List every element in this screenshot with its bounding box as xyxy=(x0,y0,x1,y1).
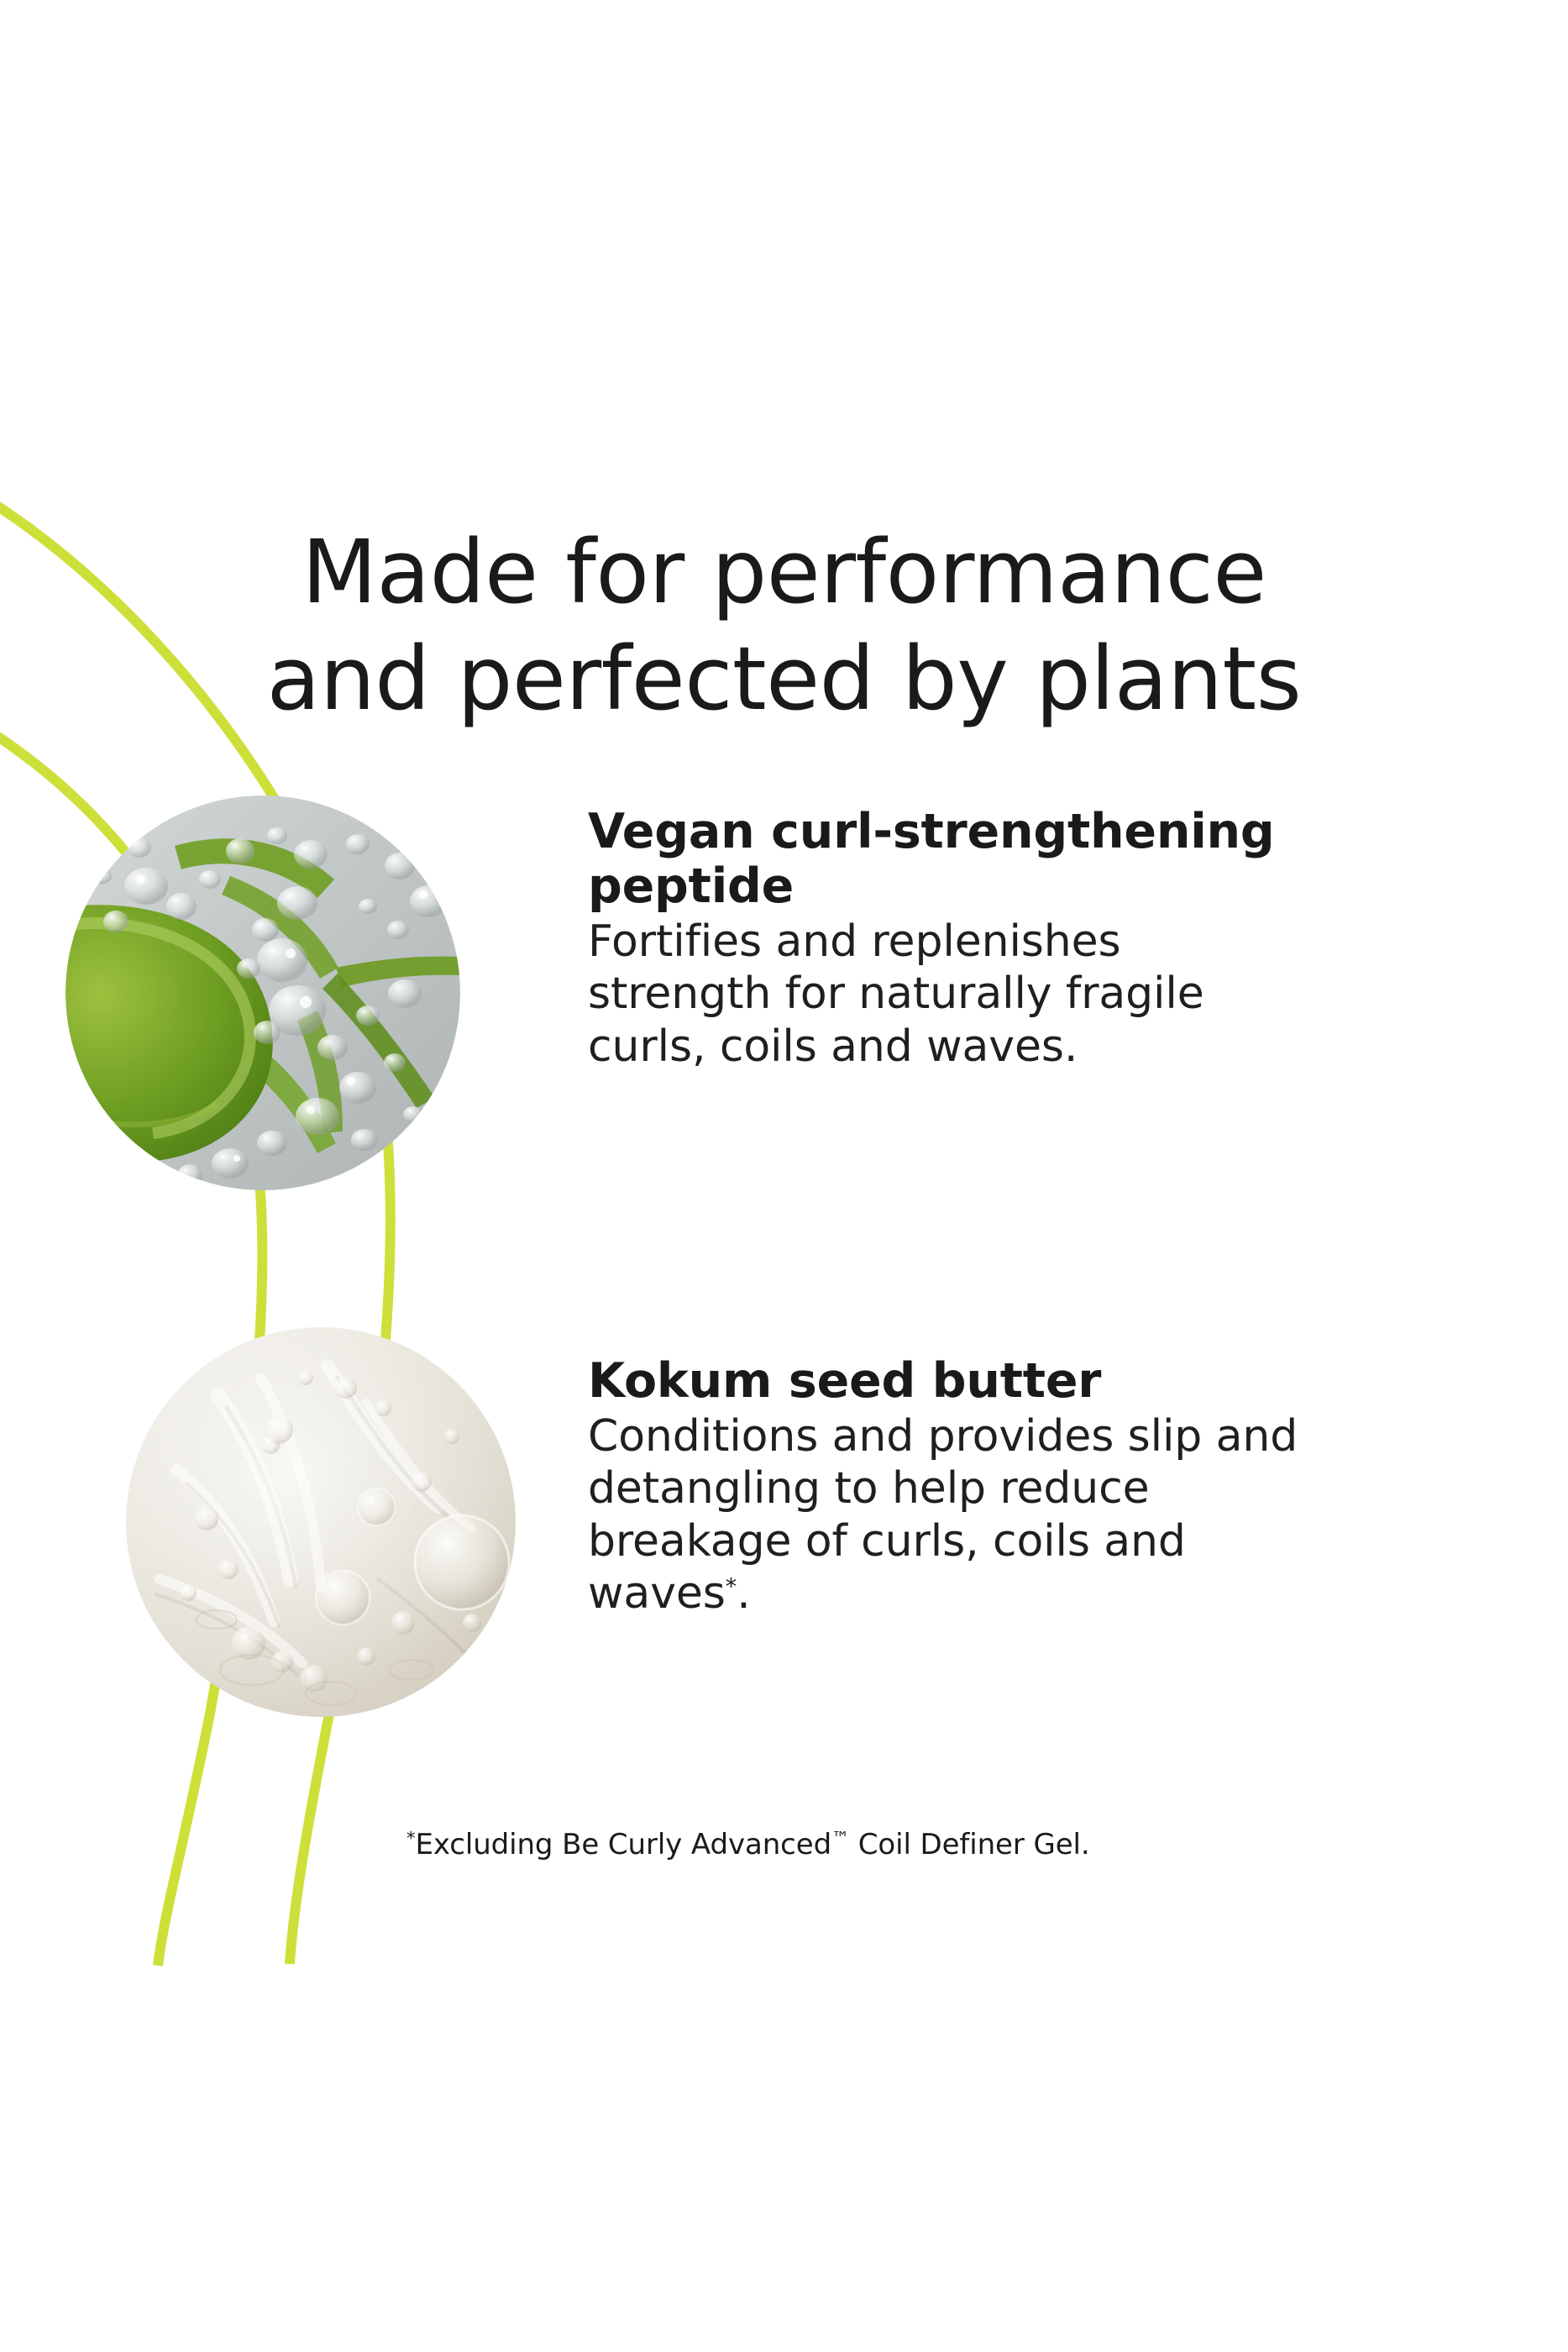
feature-block-peptide: Vegan curl-strengthening peptide Fortifi… xyxy=(588,805,1310,1073)
feature-description-kokum-period: . xyxy=(737,1568,750,1619)
footnote-reference-mark: * xyxy=(726,1573,737,1599)
footnote-asterisk: * xyxy=(406,1827,415,1848)
trademark-icon: ™ xyxy=(831,1827,849,1848)
footnote-text-before-tm: Excluding Be Curly Advanced xyxy=(415,1828,831,1861)
cream-butter-texture-swatch xyxy=(126,1327,516,1717)
page-headline: Made for performance and perfected by pl… xyxy=(0,519,1568,732)
ingredient-image-kokum xyxy=(126,1327,516,1717)
feature-description-peptide: Fortifies and replenishes strength for n… xyxy=(588,916,1310,1073)
feature-description-kokum-text: Conditions and provides slip and detangl… xyxy=(588,1411,1298,1619)
feature-title-kokum: Kokum seed butter xyxy=(588,1354,1310,1409)
green-leaf-water-droplets-swatch xyxy=(66,795,460,1190)
ingredient-image-peptide xyxy=(66,795,460,1190)
feature-block-kokum: Kokum seed butter Conditions and provide… xyxy=(588,1354,1310,1620)
feature-description-kokum: Conditions and provides slip and detangl… xyxy=(588,1410,1310,1620)
feature-title-peptide: Vegan curl-strengthening peptide xyxy=(588,805,1310,914)
footnote-text-after-tm: Coil Definer Gel. xyxy=(849,1828,1090,1861)
footnote-disclaimer: *Excluding Be Curly Advanced™ Coil Defin… xyxy=(406,1828,1330,1862)
